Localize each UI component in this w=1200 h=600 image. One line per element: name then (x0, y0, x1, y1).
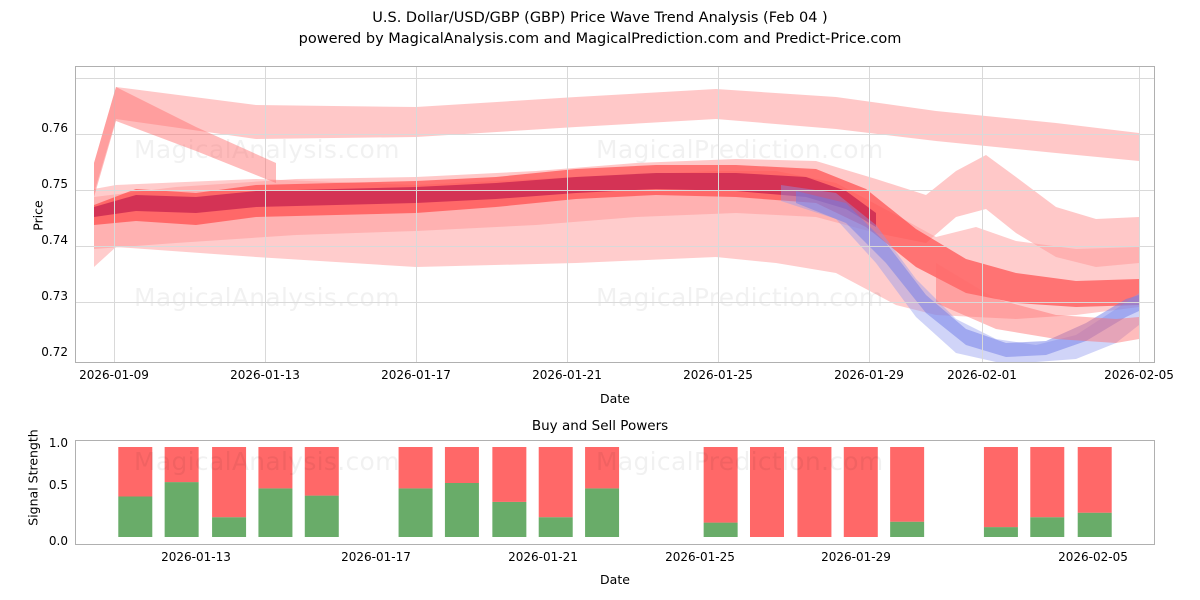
xtick-label: 2026-01-09 (64, 368, 164, 382)
xtick-label: 2026-01-25 (650, 550, 750, 564)
ytick-label: 0.72 (8, 345, 68, 359)
xtick-label: 2026-01-29 (819, 368, 919, 382)
buy-sell-powers-chart: MagicalAnalysis.com MagicalPrediction.co… (75, 440, 1155, 545)
x-axis-title-lower: Date (565, 572, 665, 587)
bar-buy (212, 517, 246, 537)
xtick-label: 2026-01-13 (215, 368, 315, 382)
chart-page: U.S. Dollar/USD/GBP (GBP) Price Wave Tre… (0, 0, 1200, 600)
lower-chart-title: Buy and Sell Powers (0, 418, 1200, 434)
y-axis-title: Price (31, 166, 46, 266)
xtick-label: 2026-01-25 (668, 368, 768, 382)
xtick-label: 2026-02-05 (1089, 368, 1189, 382)
bar-sell (890, 447, 924, 522)
y-axis-title-lower: Signal Strength (26, 418, 41, 538)
bar-sell (984, 447, 1018, 527)
bar-sell (212, 447, 246, 517)
bar-buy (305, 496, 339, 537)
xtick-label: 2026-01-21 (517, 368, 617, 382)
bar-buy (704, 523, 738, 537)
bar-sell (118, 447, 152, 497)
ytick-label: 0.73 (8, 289, 68, 303)
bar-sell (750, 447, 784, 537)
bar-sell (797, 447, 831, 537)
bar-buy (445, 483, 479, 537)
xtick-label: 2026-01-21 (493, 550, 593, 564)
bar-sell (539, 447, 573, 517)
bar-sell (1030, 447, 1064, 517)
title-block: U.S. Dollar/USD/GBP (GBP) Price Wave Tre… (0, 8, 1200, 50)
start-tail-svg (76, 67, 1154, 362)
price-wave-chart: MagicalAnalysis.com MagicalPrediction.co… (75, 66, 1155, 363)
bar-buy (118, 497, 152, 538)
bar-buy (1078, 513, 1112, 537)
bar-sell (399, 447, 433, 488)
bar-buy (492, 502, 526, 537)
bar-sell (305, 447, 339, 496)
bar-buy (1030, 517, 1064, 537)
bar-sell (1078, 447, 1112, 513)
xtick-label: 2026-02-01 (932, 368, 1032, 382)
bar-buy (539, 517, 573, 537)
bars-svg (76, 441, 1154, 544)
bar-sell (165, 447, 199, 482)
bar-sell (258, 447, 292, 488)
bar-sell (492, 447, 526, 502)
page-subtitle: powered by MagicalAnalysis.com and Magic… (0, 29, 1200, 50)
bar-sell (844, 447, 878, 537)
bar-buy (165, 482, 199, 537)
bar-sell (445, 447, 479, 483)
bar-buy (585, 488, 619, 537)
ytick-label: 0.76 (8, 121, 68, 135)
xtick-label: 2026-02-05 (1043, 550, 1143, 564)
xtick-label: 2026-01-13 (146, 550, 246, 564)
xtick-label: 2026-01-29 (806, 550, 906, 564)
band-start-tail (94, 87, 276, 197)
xtick-label: 2026-01-17 (326, 550, 426, 564)
xtick-label: 2026-01-17 (366, 368, 466, 382)
bar-buy (984, 527, 1018, 537)
x-axis-title: Date (565, 391, 665, 406)
page-title: U.S. Dollar/USD/GBP (GBP) Price Wave Tre… (0, 8, 1200, 29)
bar-buy (258, 488, 292, 537)
bar-buy (890, 522, 924, 537)
bar-buy (399, 488, 433, 537)
bar-sell (704, 447, 738, 523)
bar-sell (585, 447, 619, 488)
